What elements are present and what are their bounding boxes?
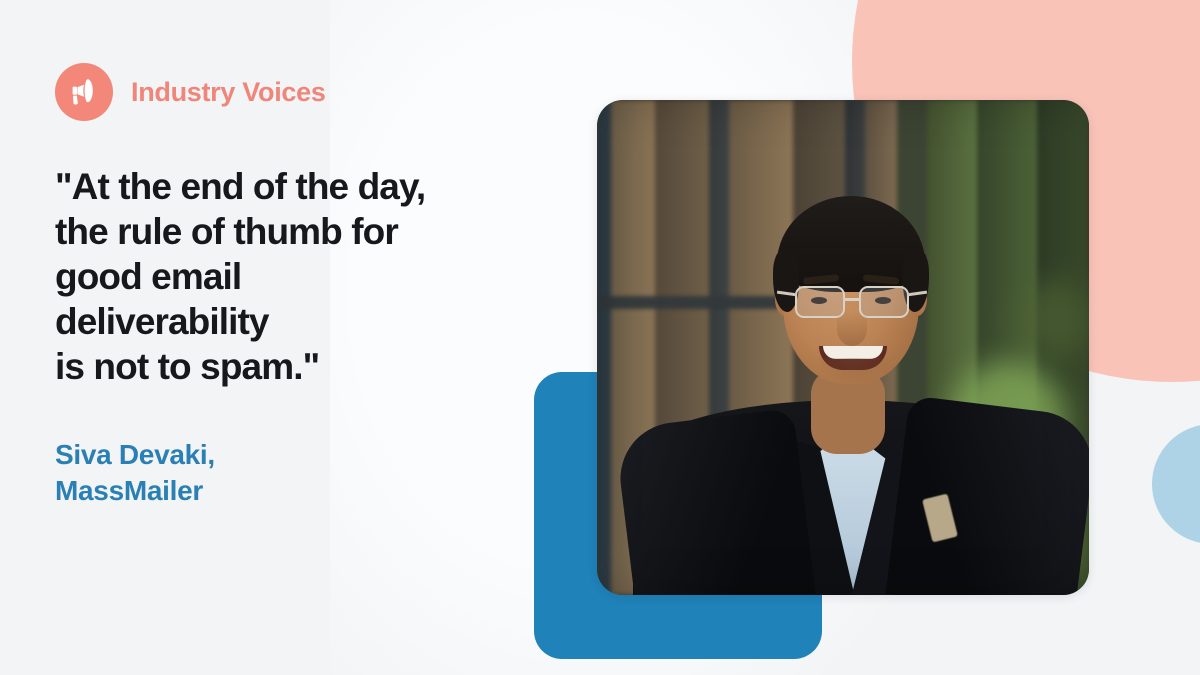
- brand-name: Industry Voices: [131, 77, 326, 108]
- megaphone-icon: [55, 63, 113, 121]
- photo-vignette: [597, 100, 1089, 595]
- portrait-photo: [597, 100, 1089, 595]
- quote-text: "At the end of the day, the rule of thum…: [55, 164, 575, 389]
- brand-lockup: Industry Voices: [55, 62, 575, 122]
- quote-attribution: Siva Devaki, MassMailer: [55, 437, 575, 509]
- content-column: Industry Voices "At the end of the day, …: [55, 62, 575, 509]
- quote-card: Industry Voices "At the end of the day, …: [0, 0, 1200, 675]
- blue-circle-decoration: [1152, 424, 1200, 544]
